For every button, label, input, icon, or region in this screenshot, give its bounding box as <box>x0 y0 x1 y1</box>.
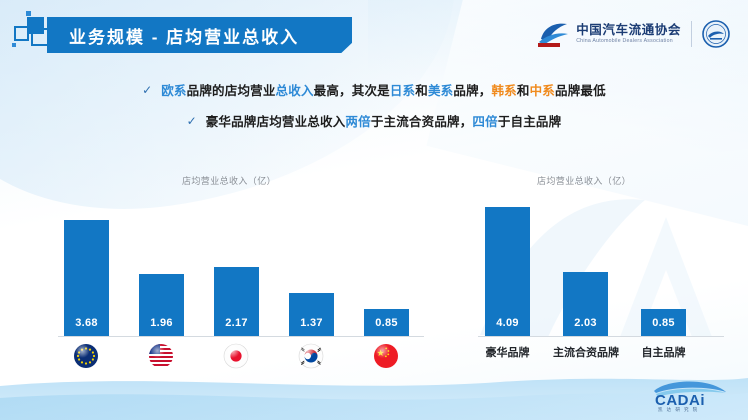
bullet-segment: 两倍 <box>345 115 370 129</box>
category-label-domestic: 自主品牌 <box>631 344 696 360</box>
bullet-text-1: 欧系品牌的店均营业总收入最高，其次是日系和美系品牌，韩系和中系品牌最低 <box>161 80 606 99</box>
slide-title-bar: 业务规模 - 店均营业总收入 <box>47 17 352 53</box>
cadai-car-icon: CADAi 凯 达 研 究 院 <box>646 378 732 412</box>
category-label-luxury: 豪华品牌 <box>475 344 540 360</box>
bullet-list: ✓ 欧系品牌的店均营业总收入最高，其次是日系和美系品牌，韩系和中系品牌最低 ✓ … <box>0 80 748 142</box>
bar-korea: 1.37 <box>289 293 334 336</box>
bullet-segment: 中系 <box>530 84 555 98</box>
bullet-segment: 豪华品牌店均营业总收入 <box>206 115 346 129</box>
cada-logo: 中国汽车流通协会 China Automobile Dealers Associ… <box>538 21 681 47</box>
japan-flag-icon <box>223 343 249 369</box>
chart-left-baseline <box>58 336 424 337</box>
bar-value-japan: 2.17 <box>225 317 248 336</box>
bar-mainstream-jv: 2.03 <box>563 272 608 336</box>
association-seal-icon <box>702 20 730 48</box>
bullet-segment: 总收入 <box>276 84 314 98</box>
bar-usa: 1.96 <box>139 274 184 336</box>
page-title: 业务规模 - 店均营业总收入 <box>47 23 299 48</box>
cada-swoosh-icon <box>538 21 570 47</box>
bullet-segment: 于主流合资品牌， <box>371 115 473 129</box>
bullet-segment: 品牌最低 <box>555 84 606 98</box>
bar-domestic: 0.85 <box>641 309 686 336</box>
chart-right-baseline <box>478 336 724 337</box>
eu-flag-icon <box>73 343 99 369</box>
bar-japan: 2.17 <box>214 267 259 336</box>
chart-left-axis-title: 店均营业总收入（亿） <box>182 174 276 187</box>
bullet-segment: 四倍 <box>472 115 497 129</box>
bullet-segment: 美系 <box>428 84 453 98</box>
category-label-mainstream-jv: 主流合资品牌 <box>541 344 631 360</box>
org-name-en: China Automobile Dealers Association <box>576 39 681 44</box>
bar-value-china: 0.85 <box>375 317 398 336</box>
bullet-segment: 和 <box>517 84 530 98</box>
korea-flag-icon <box>298 343 324 369</box>
bullet-segment: 于自主品牌 <box>498 115 562 129</box>
bullet-segment: 和 <box>415 84 428 98</box>
organization-logo-block: 中国汽车流通协会 China Automobile Dealers Associ… <box>538 20 730 48</box>
bar-value-mainstream-jv: 2.03 <box>574 317 597 336</box>
china-flag-icon <box>373 343 399 369</box>
bullet-item-1: ✓ 欧系品牌的店均营业总收入最高，其次是日系和美系品牌，韩系和中系品牌最低 <box>0 80 748 99</box>
cada-logo-text: 中国汽车流通协会 China Automobile Dealers Associ… <box>576 24 681 44</box>
chart-by-origin: 3.68 1.96 2.17 1.37 0.85 <box>58 200 448 375</box>
bullet-segment: 品牌的店均营业 <box>187 84 276 98</box>
logo-divider <box>691 21 692 47</box>
bar-luxury: 4.09 <box>485 207 530 336</box>
bar-value-usa: 1.96 <box>150 317 173 336</box>
chart-by-segment: 4.09 2.03 0.85 豪华品牌 主流合资品牌 自主品牌 <box>478 200 728 375</box>
org-name-cn: 中国汽车流通协会 <box>576 24 681 37</box>
bar-value-domestic: 0.85 <box>652 317 675 336</box>
bullet-text-2: 豪华品牌店均营业总收入两倍于主流合资品牌，四倍于自主品牌 <box>206 111 562 130</box>
usa-flag-icon <box>148 343 174 369</box>
bar-value-korea: 1.37 <box>300 317 323 336</box>
bullet-segment: 欧系 <box>161 84 186 98</box>
bullet-segment: 最高，其次是 <box>314 84 390 98</box>
bar-value-luxury: 4.09 <box>496 317 519 336</box>
check-icon: ✓ <box>187 114 197 128</box>
bar-eu: 3.68 <box>64 220 109 336</box>
bar-china: 0.85 <box>364 309 409 336</box>
bar-value-eu: 3.68 <box>75 317 98 336</box>
chart-right-axis-title: 店均营业总收入（亿） <box>537 174 631 187</box>
bullet-segment: 日系 <box>390 84 415 98</box>
check-icon: ✓ <box>142 83 152 97</box>
bullet-segment: 韩系 <box>491 84 516 98</box>
svg-text:凯 达 研 究 院: 凯 达 研 究 院 <box>658 406 699 412</box>
bullet-item-2: ✓ 豪华品牌店均营业总收入两倍于主流合资品牌，四倍于自主品牌 <box>0 111 748 130</box>
bullet-segment: 品牌， <box>453 84 491 98</box>
slide-canvas: 业务规模 - 店均营业总收入 中国汽车流通协会 China Automobile… <box>0 0 748 420</box>
